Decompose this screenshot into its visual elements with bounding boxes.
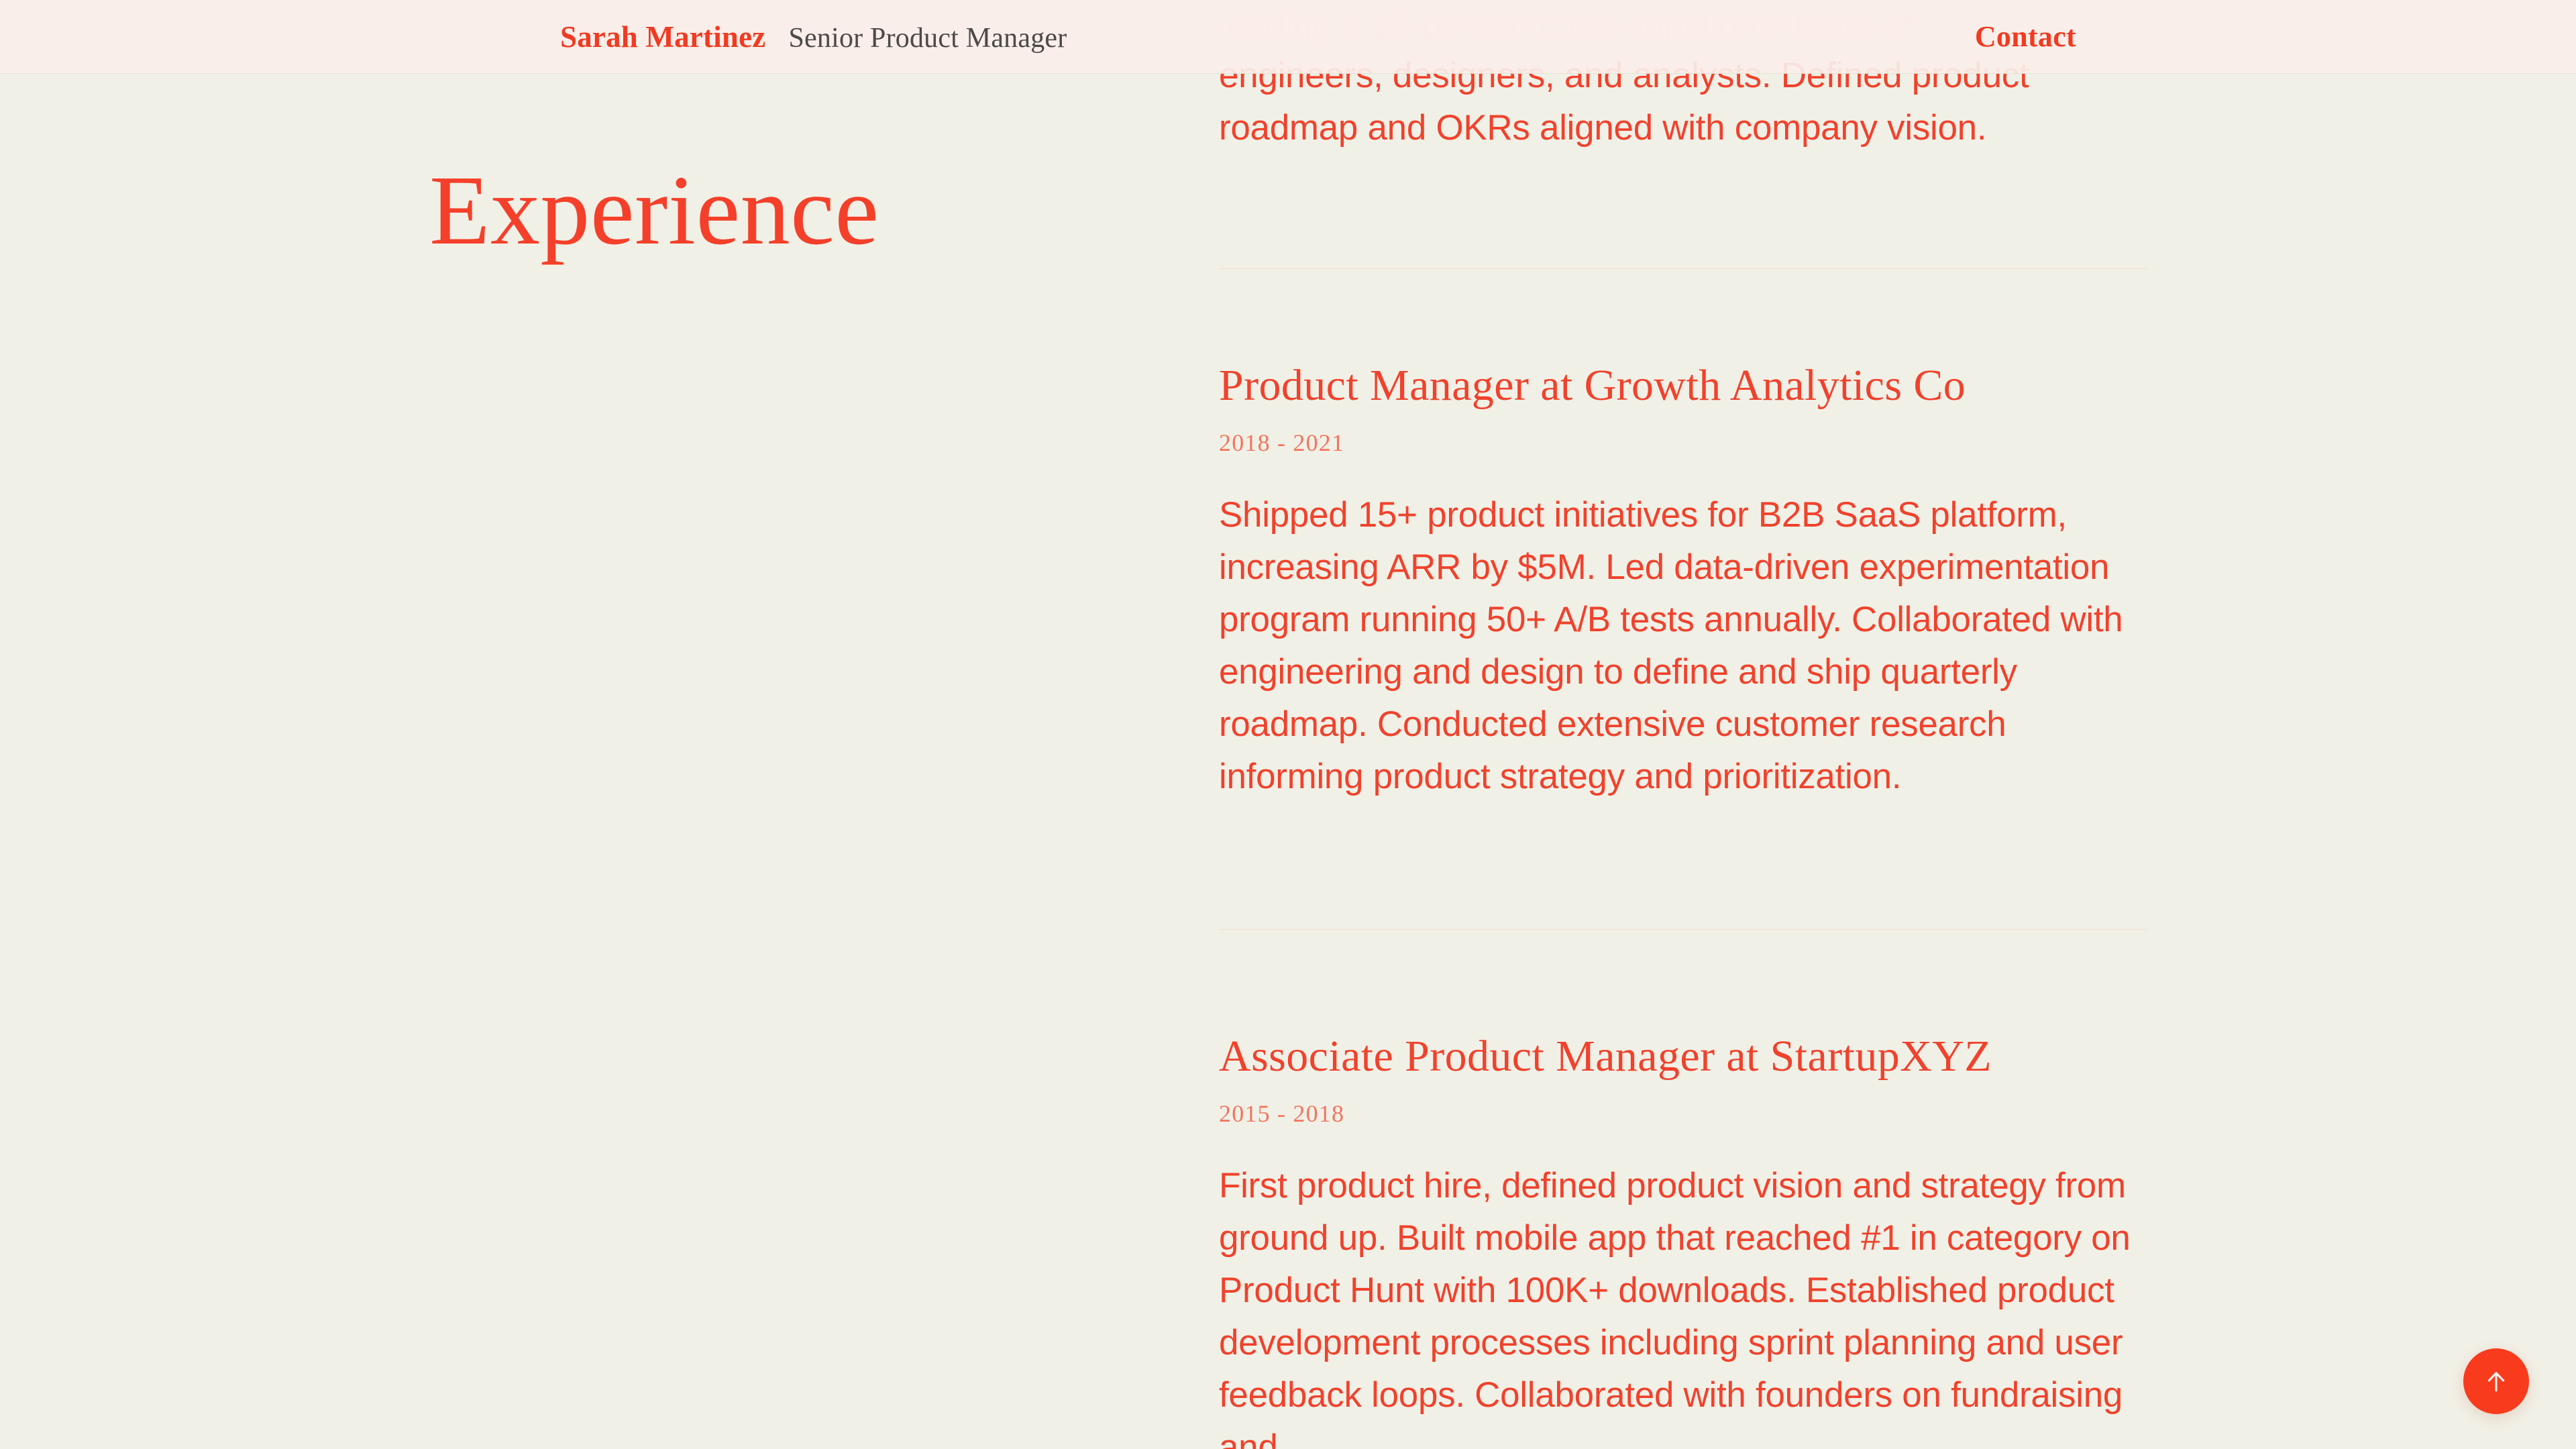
experience-entry-dates: 2018 - 2021 — [1219, 429, 2148, 457]
page-title: Experience — [429, 161, 879, 260]
experience-entry-body: First product hire, defined product visi… — [1219, 1160, 2148, 1449]
brand[interactable]: Sarah Martinez Senior Product Manager — [560, 19, 1067, 54]
experience-entry-title: Product Manager at Growth Analytics Co — [1219, 362, 2148, 409]
experience-entry: Associate Product Manager at StartupXYZ … — [1219, 1033, 2148, 1449]
portfolio-page: Experience leading a 15-person cross-fun… — [0, 0, 2576, 1449]
experience-entry-body: Shipped 15+ product initiatives for B2B … — [1219, 489, 2148, 803]
arrow-up-icon — [2481, 1366, 2511, 1396]
experience-entry-dates: 2015 - 2018 — [1219, 1099, 2148, 1128]
scroll-to-top-button[interactable] — [2463, 1348, 2529, 1414]
divider — [1219, 929, 2148, 930]
divider — [1219, 268, 2148, 269]
site-header: Sarah Martinez Senior Product Manager Co… — [0, 0, 2576, 74]
experience-entry-title: Associate Product Manager at StartupXYZ — [1219, 1033, 2148, 1079]
nav-link-contact[interactable]: Contact — [1975, 19, 2076, 54]
brand-name[interactable]: Sarah Martinez — [560, 19, 765, 54]
page-layout: Experience leading a 15-person cross-fun… — [0, 0, 2576, 1449]
brand-role: Senior Product Manager — [788, 22, 1067, 54]
experience-entry: Product Manager at Growth Analytics Co 2… — [1219, 362, 2148, 803]
